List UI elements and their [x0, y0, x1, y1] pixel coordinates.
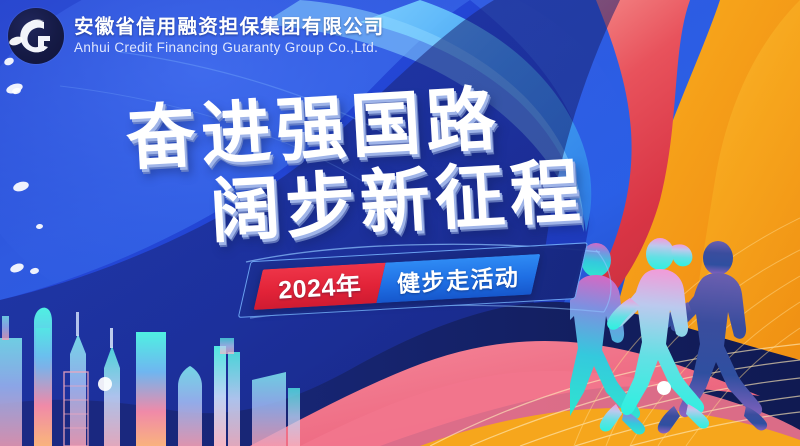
company-name-cn: 安徽省信用融资担保集团有限公司 [74, 18, 385, 38]
subtitle-year-text: 2024年 [277, 266, 362, 307]
promotional-banner: 安徽省信用融资担保集团有限公司 Anhui Credit Financing G… [0, 0, 800, 446]
subtitle-year-segment: 2024年 [254, 263, 386, 310]
subtitle-event-text: 健步走活动 [396, 258, 520, 299]
company-name-en: Anhui Credit Financing Guaranty Group Co… [74, 41, 385, 55]
subtitle-banner: 2024年 健步走活动 [257, 254, 536, 309]
logo-g-mark-icon [8, 8, 64, 64]
company-header: 安徽省信用融资担保集团有限公司 Anhui Credit Financing G… [8, 8, 385, 64]
